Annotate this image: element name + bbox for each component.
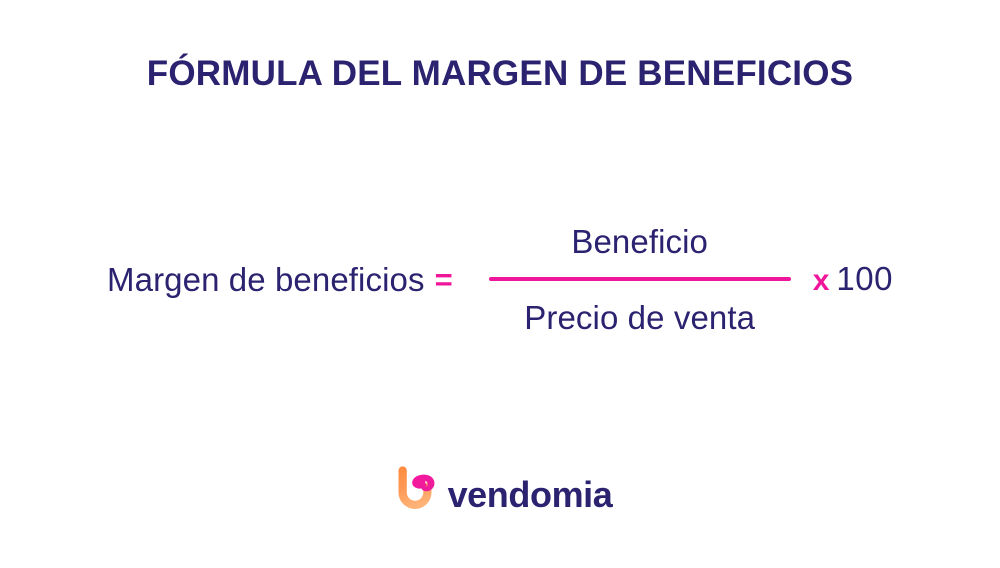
- multiply-value: 100: [836, 262, 893, 295]
- profit-margin-formula: Margen de beneficios = Beneficio Precio …: [0, 214, 1000, 344]
- fraction-numerator: Beneficio: [571, 225, 708, 258]
- equals-sign: =: [435, 264, 453, 295]
- fraction-bar: [489, 277, 791, 281]
- vendomia-swoosh-icon: [388, 462, 444, 518]
- multiply-symbol: x: [813, 266, 830, 296]
- formula-left-term: Margen de beneficios: [107, 263, 425, 296]
- fraction: Beneficio Precio de venta: [489, 225, 791, 334]
- brand-logo: vendomia: [0, 462, 1000, 518]
- formula-infographic: FÓRMULA DEL MARGEN DE BENEFICIOS Margen …: [0, 0, 1000, 568]
- fraction-denominator: Precio de venta: [524, 301, 755, 334]
- multiplier-group: x 100: [813, 262, 893, 296]
- page-title: FÓRMULA DEL MARGEN DE BENEFICIOS: [0, 54, 1000, 94]
- logo-wordmark: vendomia: [448, 477, 613, 513]
- logo-mark-wrap: [388, 462, 448, 518]
